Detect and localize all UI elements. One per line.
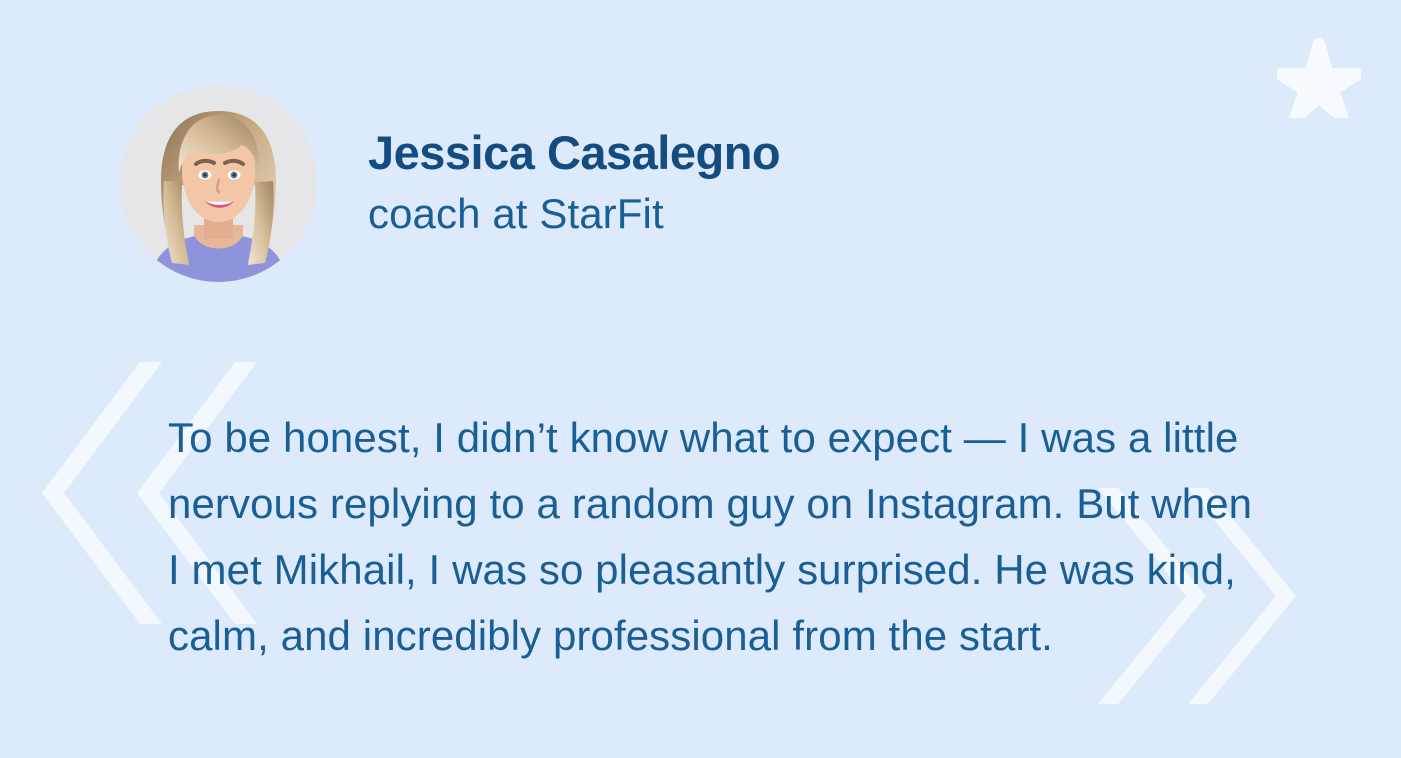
- quote-line: To be honest, I didn’t know what to expe…: [168, 405, 1348, 471]
- person-block: Jessica Casalegno coach at StarFit: [120, 85, 780, 282]
- card-content: Jessica Casalegno coach at StarFit To be…: [0, 0, 1401, 758]
- quote-line: nervous replying to a random guy on Inst…: [168, 471, 1348, 537]
- quote-line: I met Mikhail, I was so pleasantly surpr…: [168, 537, 1348, 603]
- quote-line: calm, and incredibly professional from t…: [168, 603, 1348, 669]
- person-text: Jessica Casalegno coach at StarFit: [368, 125, 780, 241]
- avatar-photo: [120, 85, 317, 282]
- avatar: [120, 85, 317, 282]
- testimonial-card: Jessica Casalegno coach at StarFit To be…: [0, 0, 1401, 758]
- person-role: coach at StarFit: [368, 187, 780, 242]
- person-name: Jessica Casalegno: [368, 125, 780, 180]
- testimonial-quote: To be honest, I didn’t know what to expe…: [168, 405, 1348, 669]
